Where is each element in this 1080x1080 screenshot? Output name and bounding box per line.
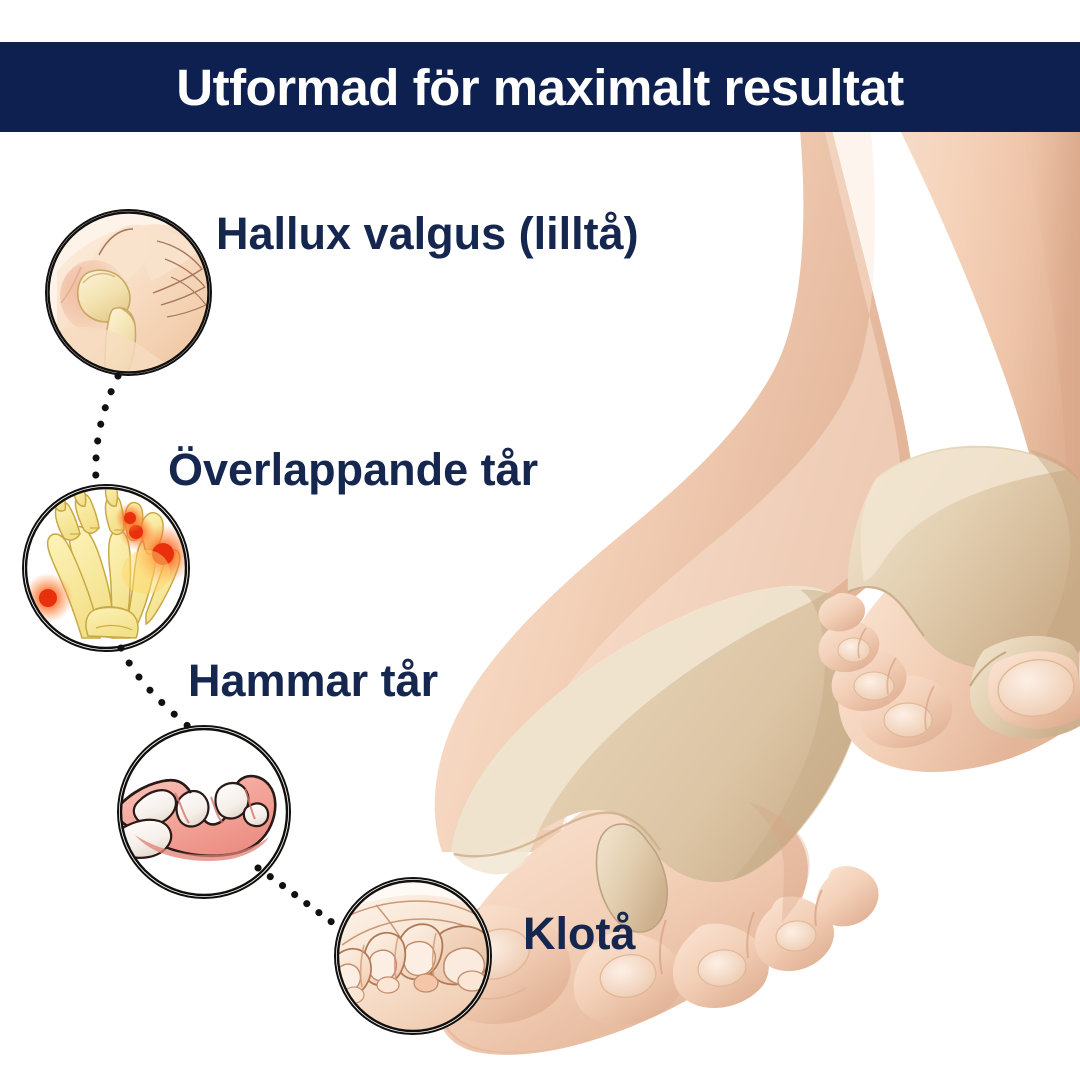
page-title: Utformad för maximalt resultat [0, 42, 1080, 132]
label-hammer-toes: Hammar tår [188, 655, 438, 707]
label-hallux-valgus: Hallux valgus (lilltå) [216, 208, 639, 260]
connector-hallux-to-overlap [60, 370, 150, 495]
illustration-claw-toes [334, 877, 492, 1035]
illustration-overlapping-toes [22, 484, 190, 652]
product-infographic: Utformad för maximalt resultat [0, 0, 1080, 1080]
label-claw-toes: Klotå [523, 908, 636, 960]
illustration-hallux-valgus [45, 209, 212, 376]
connector-hammer-to-claw [250, 862, 350, 942]
header-banner: Utformad för maximalt resultat [0, 42, 1080, 132]
label-overlapping-toes: Överlappande tår [168, 444, 538, 496]
